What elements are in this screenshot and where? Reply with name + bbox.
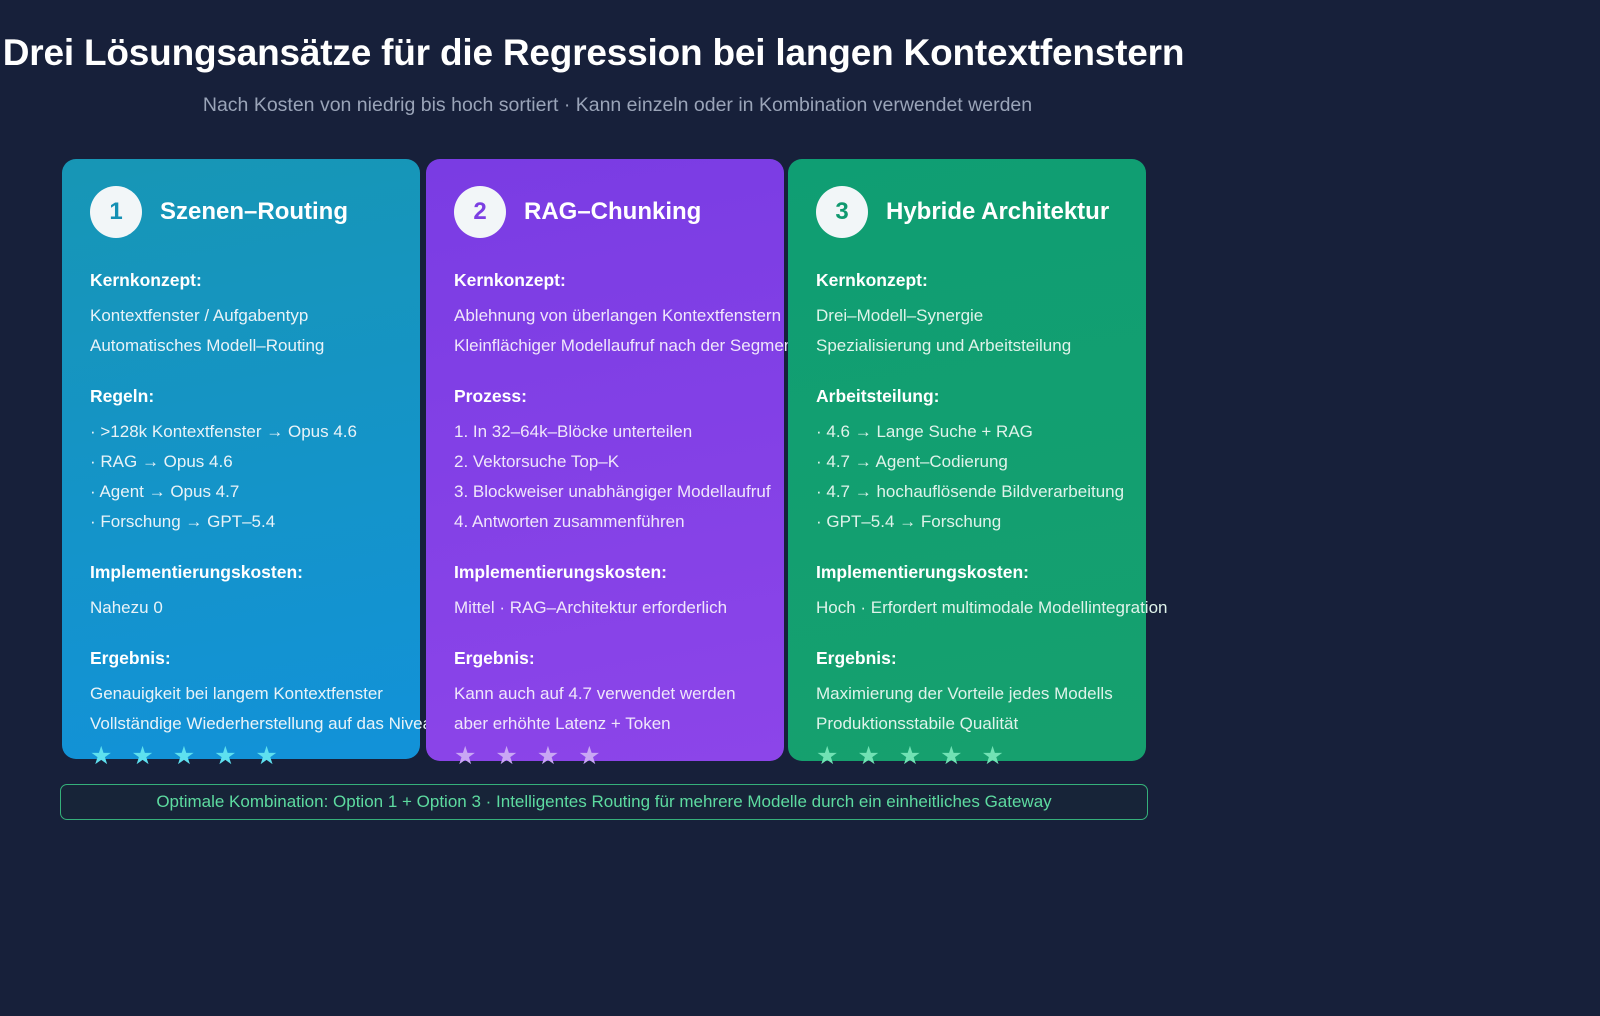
concept-line: Automatisches Modell–Routing — [90, 331, 392, 361]
detail-line: · Agent → Opus 4.7 — [90, 477, 392, 507]
solution-card-1[interactable]: 1 Szenen–Routing Kernkonzept: Kontextfen… — [62, 159, 420, 759]
cost-label: Implementierungskosten: — [816, 559, 1118, 585]
result-line: Kann auch auf 4.7 verwendet werden — [454, 679, 756, 709]
detail-line: 2. Vektorsuche Top–K — [454, 447, 756, 477]
concept-label: Kernkonzept: — [454, 267, 756, 293]
cost-section: Implementierungskosten: Mittel · RAG–Arc… — [454, 559, 756, 623]
card-number-badge: 3 — [816, 186, 868, 238]
star-rating: ★ ★ ★ ★ — [454, 741, 756, 771]
cost-value: Nahezu 0 — [90, 593, 392, 623]
concept-section: Kernkonzept: Kontextfenster / Aufgabenty… — [90, 267, 392, 361]
card-title: RAG–Chunking — [524, 198, 701, 226]
result-label: Ergebnis: — [816, 645, 1118, 671]
detail-line: · 4.7 → Agent–Codierung — [816, 447, 1118, 477]
detail-line: 3. Blockweiser unabhängiger Modellaufruf — [454, 477, 756, 507]
detail-section: Arbeitsteilung: · 4.6 → Lange Suche + RA… — [816, 383, 1118, 537]
solution-card-3[interactable]: 3 Hybride Architektur Kernkonzept: Drei–… — [788, 159, 1146, 761]
star-rating: ★ ★ ★ ★ ★ — [816, 741, 1118, 771]
concept-line: Kontextfenster / Aufgabentyp — [90, 301, 392, 331]
result-section: Ergebnis: Kann auch auf 4.7 verwendet we… — [454, 645, 756, 771]
concept-label: Kernkonzept: — [816, 267, 1118, 293]
detail-line: · 4.7 → hochauflösende Bildverarbeitung — [816, 477, 1118, 507]
optimal-combination-text: Optimale Kombination: Option 1 + Option … — [156, 792, 1051, 812]
detail-line: 4. Antworten zusammenführen — [454, 507, 756, 537]
result-section: Ergebnis: Genauigkeit bei langem Kontext… — [90, 645, 392, 771]
result-line: Maximierung der Vorteile jedes Modells — [816, 679, 1118, 709]
detail-line: 1. In 32–64k–Blöcke unterteilen — [454, 417, 756, 447]
card-header: 2 RAG–Chunking — [454, 185, 756, 239]
concept-line: Spezialisierung und Arbeitsteilung — [816, 331, 1118, 361]
detail-line: · 4.6 → Lange Suche + RAG — [816, 417, 1118, 447]
page-subtitle: Nach Kosten von niedrig bis hoch sortier… — [0, 90, 1245, 120]
concept-line: Ablehnung von überlangen Kontextfenstern — [454, 301, 756, 331]
detail-line: · RAG → Opus 4.6 — [90, 447, 392, 477]
detail-label: Prozess: — [454, 383, 756, 409]
result-line: aber erhöhte Latenz + Token — [454, 709, 756, 739]
result-line: Vollständige Wiederherstellung auf das N… — [90, 709, 392, 739]
concept-line: Drei–Modell–Synergie — [816, 301, 1118, 331]
detail-line: · Forschung → GPT–5.4 — [90, 507, 392, 537]
result-label: Ergebnis: — [454, 645, 756, 671]
card-title: Szenen–Routing — [160, 198, 348, 226]
card-header: 1 Szenen–Routing — [90, 185, 392, 239]
cost-value: Mittel · RAG–Architektur erforderlich — [454, 593, 756, 623]
concept-section: Kernkonzept: Drei–Modell–Synergie Spezia… — [816, 267, 1118, 361]
cost-section: Implementierungskosten: Hoch · Erfordert… — [816, 559, 1118, 623]
header: Drei Lösungsansätze für die Regression b… — [0, 28, 1245, 120]
detail-line: · GPT–5.4 → Forschung — [816, 507, 1118, 537]
card-title: Hybride Architektur — [886, 198, 1109, 226]
card-header: 3 Hybride Architektur — [816, 185, 1118, 239]
detail-label: Arbeitsteilung: — [816, 383, 1118, 409]
detail-section: Regeln: · >128k Kontextfenster → Opus 4.… — [90, 383, 392, 537]
card-number-badge: 2 — [454, 186, 506, 238]
result-line: Produktionsstabile Qualität — [816, 709, 1118, 739]
result-label: Ergebnis: — [90, 645, 392, 671]
concept-line: Kleinflächiger Modellaufruf nach der Seg… — [454, 331, 756, 361]
result-line: Genauigkeit bei langem Kontextfenster — [90, 679, 392, 709]
detail-section: Prozess: 1. In 32–64k–Blöcke unterteilen… — [454, 383, 756, 537]
star-rating: ★ ★ ★ ★ ★ — [90, 741, 392, 771]
optimal-combination-banner[interactable]: Optimale Kombination: Option 1 + Option … — [60, 784, 1148, 820]
concept-label: Kernkonzept: — [90, 267, 392, 293]
cost-label: Implementierungskosten: — [90, 559, 392, 585]
cost-section: Implementierungskosten: Nahezu 0 — [90, 559, 392, 623]
detail-label: Regeln: — [90, 383, 392, 409]
detail-line: · >128k Kontextfenster → Opus 4.6 — [90, 417, 392, 447]
cost-label: Implementierungskosten: — [454, 559, 756, 585]
card-number-badge: 1 — [90, 186, 142, 238]
concept-section: Kernkonzept: Ablehnung von überlangen Ko… — [454, 267, 756, 361]
solution-card-2[interactable]: 2 RAG–Chunking Kernkonzept: Ablehnung vo… — [426, 159, 784, 761]
cost-value: Hoch · Erfordert multimodale Modellinteg… — [816, 593, 1118, 623]
slide-canvas: Drei Lösungsansätze für die Regression b… — [0, 0, 1600, 1016]
result-section: Ergebnis: Maximierung der Vorteile jedes… — [816, 645, 1118, 771]
page-title: Drei Lösungsansätze für die Regression b… — [0, 28, 1245, 78]
